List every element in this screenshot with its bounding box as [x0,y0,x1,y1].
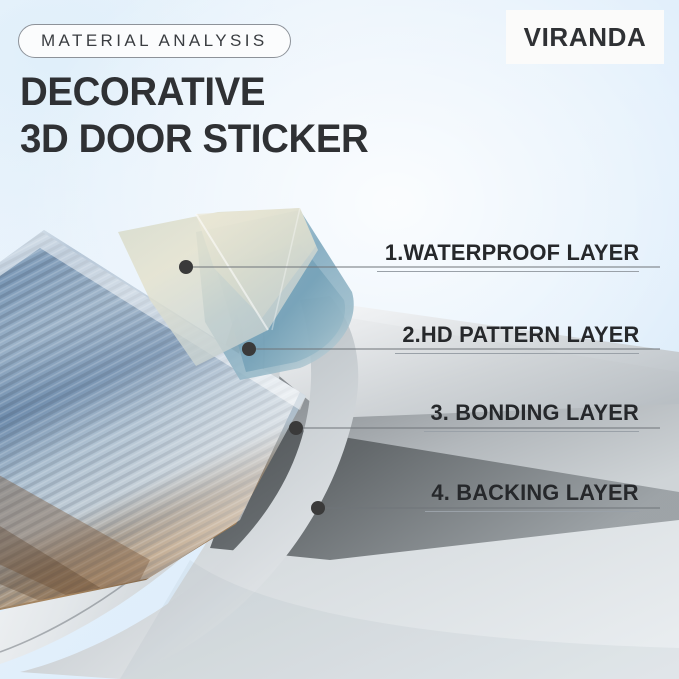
badge-label: MATERIAL ANALYSIS [41,31,268,51]
callout-label-3: 3. BONDING LAYER [424,400,639,432]
callout-label-2: 2.HD PATTERN LAYER [395,322,639,354]
page-title-line-1: DECORATIVE [20,70,265,115]
callout-rule-1 [377,271,639,272]
brand-logo-text: VIRANDA [524,22,647,53]
callout-label-1: 1.WATERPROOF LAYER [377,240,639,272]
brand-logo: VIRANDA [506,10,664,64]
callout-rule-3 [424,431,639,432]
callout-label-4: 4. BACKING LAYER [425,480,639,512]
callout-dot-1 [179,260,193,274]
callout-rule-2 [395,353,639,354]
callout-rule-4 [425,511,639,512]
callout-label-2-text: 2.HD PATTERN LAYER [402,322,639,348]
callout-dot-3 [289,421,303,435]
page-title-line-2: 3D DOOR STICKER [20,117,368,162]
infographic-canvas: MATERIAL ANALYSIS DECORATIVE 3D DOOR STI… [0,0,679,679]
callout-label-1-text: 1.WATERPROOF LAYER [384,240,639,266]
callout-label-4-text: 4. BACKING LAYER [432,480,639,506]
material-analysis-badge: MATERIAL ANALYSIS [18,24,291,58]
callout-dot-2 [242,342,256,356]
callout-dot-4 [311,501,325,515]
callout-label-3-text: 3. BONDING LAYER [431,400,639,426]
